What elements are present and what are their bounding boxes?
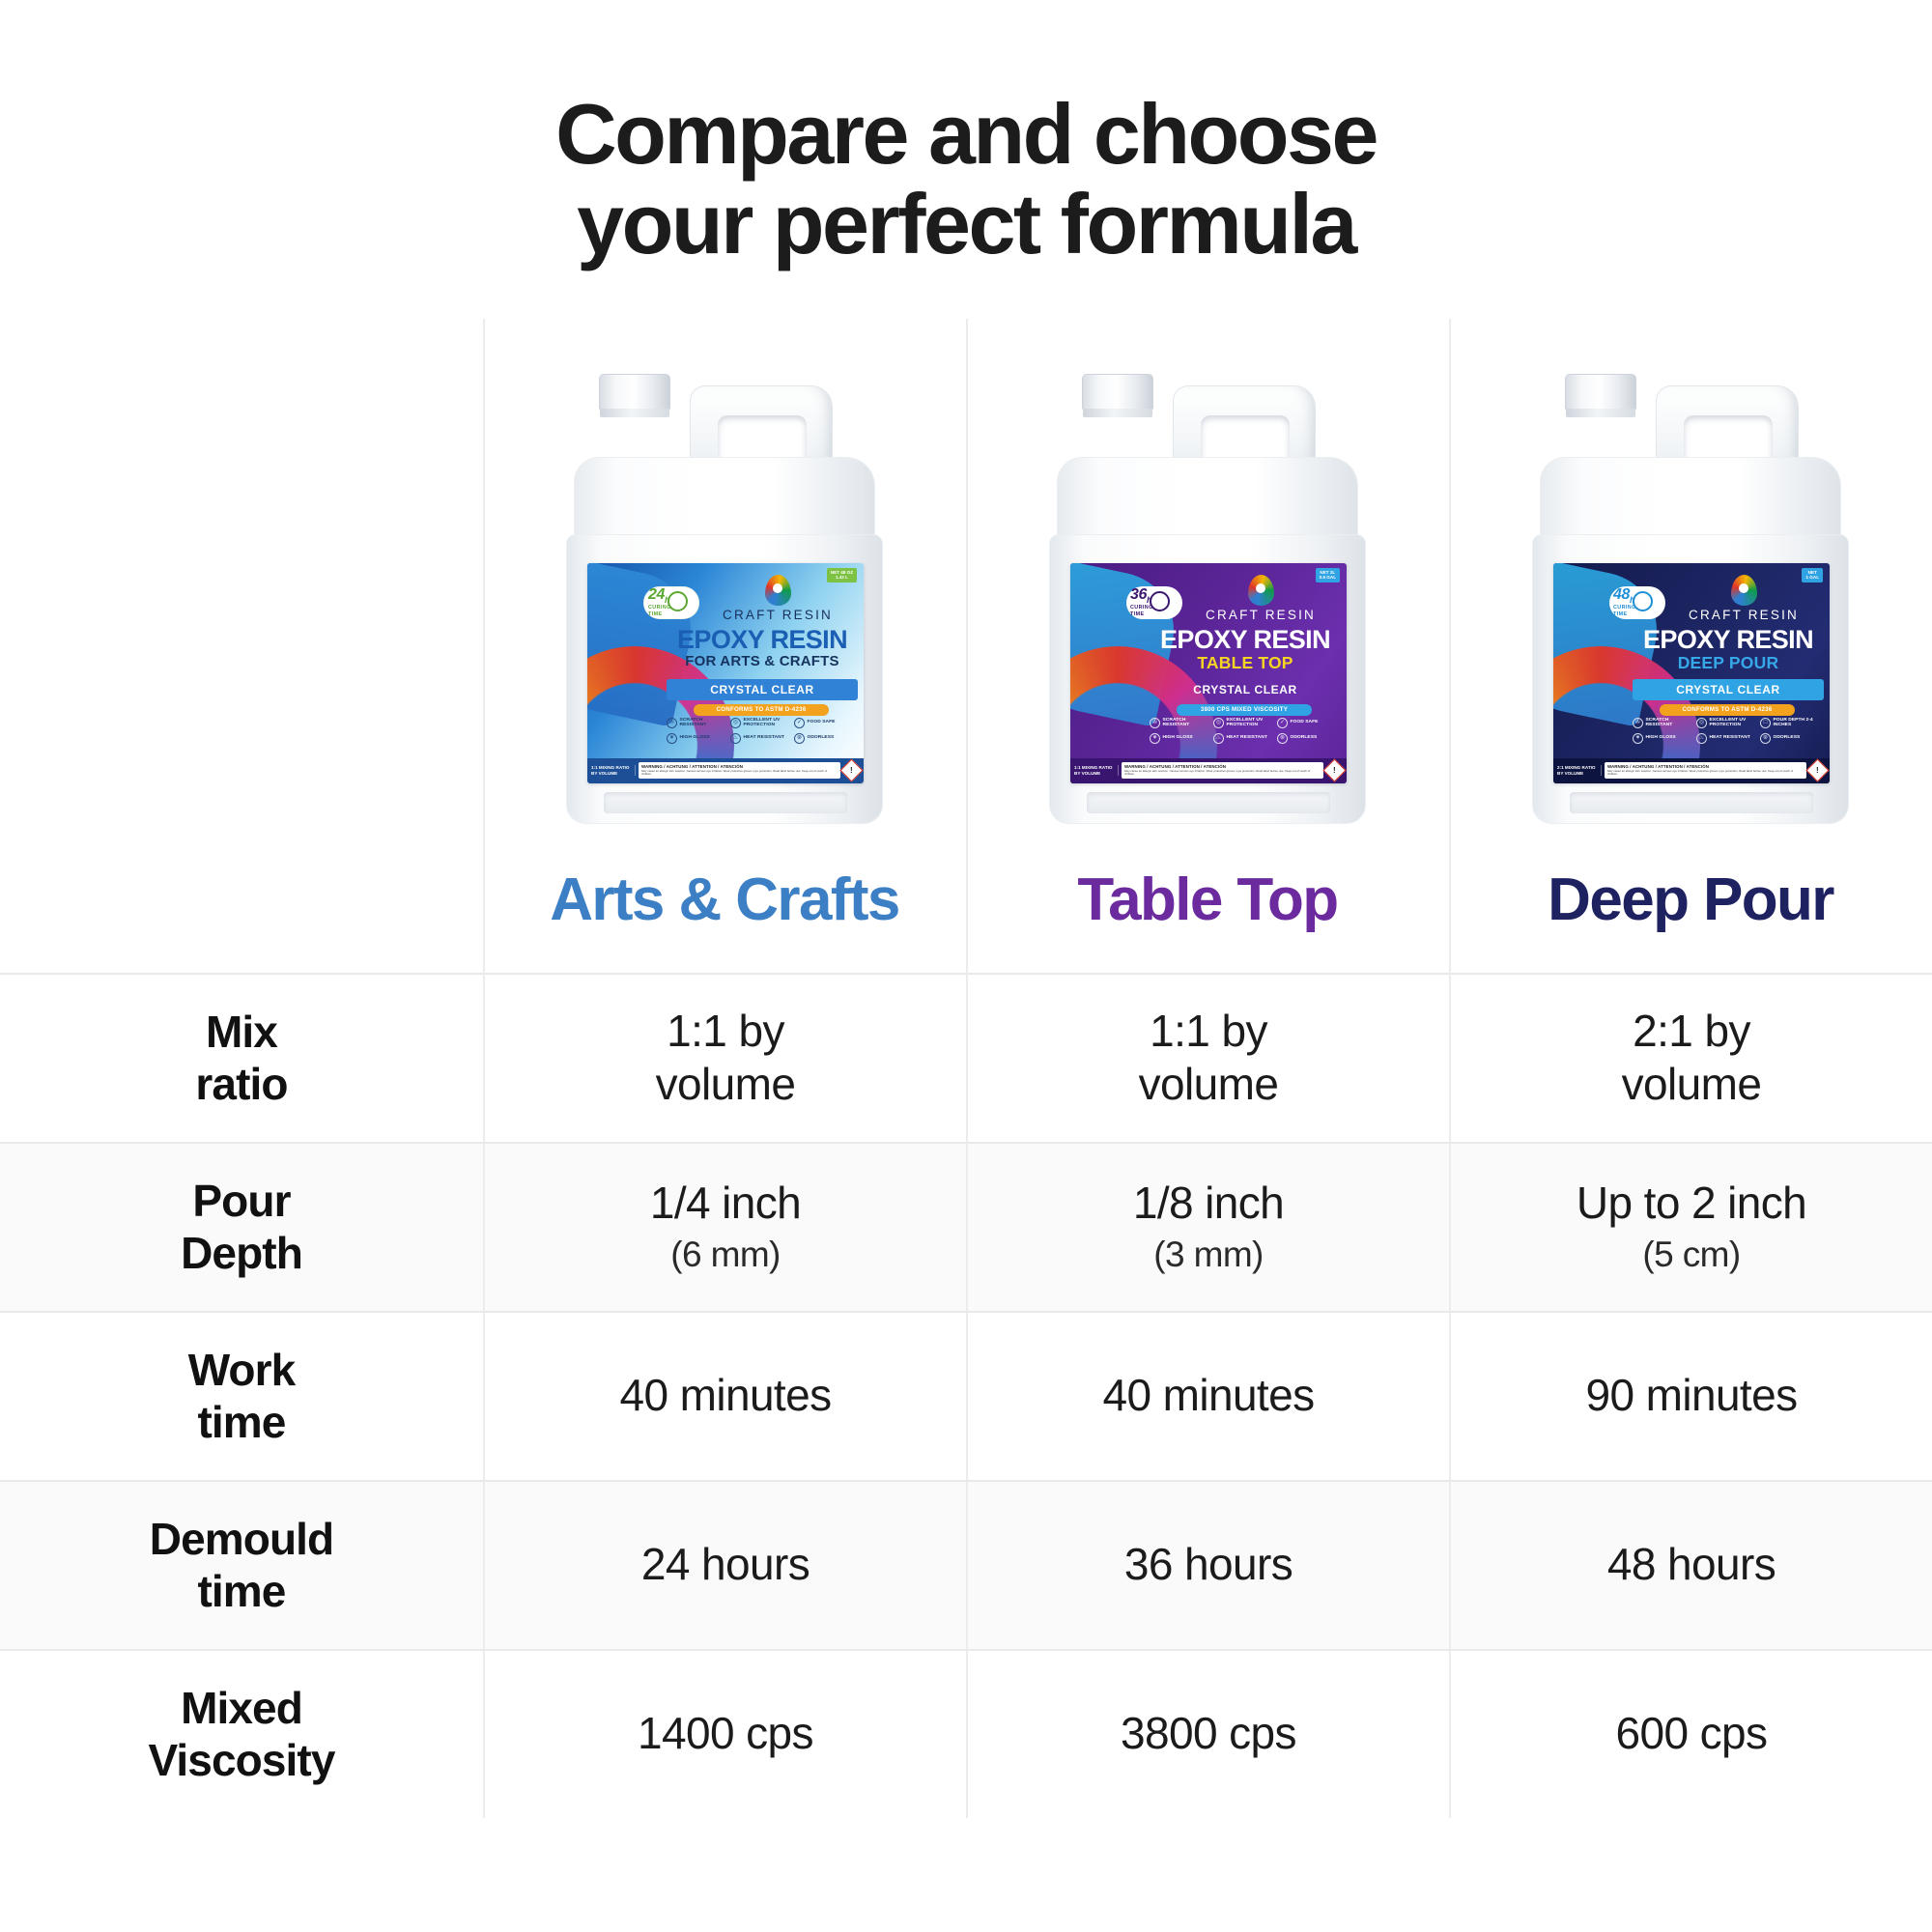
ghs-hazard-icon: !	[1322, 759, 1346, 782]
cell-subvalue: (6 mm)	[670, 1234, 781, 1276]
rainbow-droplet-icon	[1731, 575, 1757, 606]
cell-work-time-table-top: 40 minutes	[966, 1313, 1449, 1480]
feature-item: ◎EXCELLENT UV PROTECTION	[730, 718, 792, 728]
label-title-block: EPOXY RESIN DEEP POUR	[1636, 627, 1820, 672]
feature-item: ♨HEAT RESISTANT	[1696, 733, 1758, 744]
cell-work-time-deep-pour: 90 minutes	[1449, 1313, 1932, 1480]
feature-item: ⊗ODORLESS	[794, 733, 856, 744]
product-name-text: Arts & Crafts	[550, 867, 899, 933]
table-row: PourDepth 1/4 inch (6 mm) 1/8 inch (3 mm…	[0, 1142, 1932, 1311]
feature-label: HEAT RESISTANT	[744, 735, 784, 740]
label-title-line-1: EPOXY RESIN	[670, 627, 854, 653]
warning-block: WARNING / ACHTUNG / ATTENTION / ATENCIÓN…	[1122, 762, 1323, 779]
label-feature-grid: ✇SCRATCH RESISTANT ◎EXCELLENT UV PROTECT…	[665, 718, 858, 744]
feature-label: ODORLESS	[808, 735, 835, 740]
astm-badge: CONFORMS TO ASTM D-4236	[1660, 704, 1795, 716]
crystal-clear-bar: CRYSTAL CLEAR	[1633, 679, 1824, 700]
rainbow-droplet-icon	[1248, 575, 1274, 606]
feature-item: ◎EXCELLENT UV PROTECTION	[1213, 718, 1275, 728]
feature-item: ✇SCRATCH RESISTANT	[1150, 718, 1211, 728]
crystal-clear-bar: CRYSTAL CLEAR	[1150, 679, 1341, 700]
feature-item: ✷HIGH GLOSS	[1633, 733, 1694, 744]
feature-label: EXCELLENT UV PROTECTION	[744, 718, 793, 728]
ghs-hazard-icon: !	[1805, 759, 1829, 782]
product-label-table-top: NET 2L0.5 GAL 36h CURING TIME CRAFT RESI…	[1070, 563, 1347, 783]
mixing-ratio-text: 2:1 MIXING RATIO BY VOLUME	[1557, 765, 1602, 776]
odorless-icon: ⊗	[1277, 733, 1288, 744]
product-name-arts-crafts: Arts & Crafts	[483, 866, 966, 934]
cell-demould-time-deep-pour: 48 hours	[1449, 1482, 1932, 1649]
curing-label-2: TIME	[1130, 612, 1153, 617]
feature-label: HIGH GLOSS	[680, 735, 710, 740]
feature-item: ◎EXCELLENT UV PROTECTION	[1696, 718, 1758, 728]
brand-lockup: CRAFT RESIN	[1671, 575, 1816, 622]
row-attribute-mix-ratio: Mixratio	[0, 975, 483, 1142]
astm-badge: CONFORMS TO ASTM D-4236	[694, 704, 829, 716]
high-gloss-icon: ✷	[667, 733, 677, 744]
brand-name: CRAFT RESIN	[1188, 608, 1333, 622]
curing-label-2: TIME	[648, 612, 671, 617]
warning-body: May cause an allergic skin reaction. Cau…	[641, 770, 838, 777]
bottle-shoulder	[1057, 457, 1358, 546]
cell-demould-time-arts-crafts: 24 hours	[483, 1482, 966, 1649]
product-images-row: NET 48 OZ1.42 L 24h CURING TIME CRAFT RE…	[0, 316, 1932, 828]
product-image-deep-pour: NET1 GAL 48h CURING TIME CRAFT RESIN	[1449, 316, 1932, 828]
row-attribute-work-time: Worktime	[0, 1313, 483, 1480]
label-footer: 1:1 MIXING RATIO BY VOLUME WARNING / ACH…	[1070, 758, 1347, 783]
curing-label-1: CURING	[1613, 606, 1636, 611]
heat-resistant-icon: ♨	[1213, 733, 1224, 744]
bottle-deep-pour: NET1 GAL 48h CURING TIME CRAFT RESIN	[1511, 374, 1870, 828]
feature-item: ✓FOOD SAFE	[794, 718, 856, 728]
page-title: Compare and choose your perfect formula	[0, 0, 1932, 270]
odorless-icon: ⊗	[1760, 733, 1771, 744]
bottle-shoulder	[574, 457, 875, 546]
bottle-cap-icon	[1082, 374, 1153, 411]
bottle-cap-icon	[1565, 374, 1636, 411]
brand-lockup: CRAFT RESIN	[705, 575, 850, 622]
feature-label: HIGH GLOSS	[1163, 735, 1193, 740]
label-footer: 1:1 MIXING RATIO BY VOLUME WARNING / ACH…	[587, 758, 864, 783]
label-title-line-1: EPOXY RESIN	[1636, 627, 1820, 653]
feature-item: ♨HEAT RESISTANT	[1213, 733, 1275, 744]
cell-subvalue: (3 mm)	[1153, 1234, 1264, 1276]
cell-pour-depth-deep-pour: Up to 2 inch (5 cm)	[1449, 1144, 1932, 1311]
feature-item: ✇SCRATCH RESISTANT	[1633, 718, 1694, 728]
uv-protection-icon: ◎	[1696, 718, 1707, 728]
product-name-text: Table Top	[1077, 867, 1337, 933]
curing-label-1: CURING	[1130, 606, 1153, 611]
bottle-cap-icon	[599, 374, 670, 411]
feature-item: ✷HIGH GLOSS	[667, 733, 728, 744]
brand-name: CRAFT RESIN	[1671, 608, 1816, 622]
feature-label: HEAT RESISTANT	[1227, 735, 1267, 740]
feature-label: ODORLESS	[1291, 735, 1318, 740]
scratch-resistant-icon: ✇	[1633, 718, 1643, 728]
warning-block: WARNING / ACHTUNG / ATTENTION / ATENCIÓN…	[1605, 762, 1806, 779]
clock-dial-icon	[1633, 591, 1653, 611]
odorless-icon: ⊗	[794, 733, 805, 744]
row-attribute-mixed-viscosity: MixedViscosity	[0, 1651, 483, 1818]
cell-mixed-viscosity-arts-crafts: 1400 cps	[483, 1651, 966, 1818]
curing-label-2: TIME	[1613, 612, 1636, 617]
label-title-line-1: EPOXY RESIN	[1153, 627, 1337, 653]
cell-demould-time-table-top: 36 hours	[966, 1482, 1449, 1649]
warning-body: May cause an allergic skin reaction. Cau…	[1124, 770, 1321, 777]
clock-dial-icon	[1150, 591, 1170, 611]
curing-time-badge: 48h CURING TIME	[1609, 586, 1665, 619]
row-attribute-demould-time: Demouldtime	[0, 1482, 483, 1649]
feature-item: ✇SCRATCH RESISTANT	[667, 718, 728, 728]
feature-item: ⊗ODORLESS	[1760, 733, 1822, 744]
bottle-arts-crafts: NET 48 OZ1.42 L 24h CURING TIME CRAFT RE…	[545, 374, 904, 828]
table-row: Demouldtime 24 hours 36 hours 48 hours	[0, 1480, 1932, 1649]
label-title-line-2: DEEP POUR	[1636, 654, 1820, 672]
feature-label: FOOD SAFE	[1291, 720, 1319, 724]
food-safe-icon: ✓	[794, 718, 805, 728]
comparison-infographic: Compare and choose your perfect formula …	[0, 0, 1932, 1932]
page-title-line-2: your perfect formula	[0, 179, 1932, 269]
label-footer: 2:1 MIXING RATIO BY VOLUME WARNING / ACH…	[1553, 758, 1830, 783]
comparison-table: Mixratio 1:1 byvolume 1:1 byvolume 2:1 b…	[0, 973, 1932, 1818]
cell-mix-ratio-arts-crafts: 1:1 byvolume	[483, 975, 966, 1142]
feature-item: ✓FOOD SAFE	[1277, 718, 1339, 728]
ghs-hazard-icon: !	[839, 759, 863, 782]
brand-name: CRAFT RESIN	[705, 608, 850, 622]
pour-depth-icon: □	[1760, 718, 1771, 728]
scratch-resistant-icon: ✇	[667, 718, 677, 728]
uv-protection-icon: ◎	[1213, 718, 1224, 728]
cell-mixed-viscosity-table-top: 3800 cps	[966, 1651, 1449, 1818]
cell-subvalue: (5 cm)	[1642, 1234, 1740, 1276]
curing-time-badge: 24h CURING TIME	[643, 586, 699, 619]
high-gloss-icon: ✷	[1633, 733, 1643, 744]
label-title-block: EPOXY RESIN TABLE TOP	[1153, 627, 1337, 672]
mixing-ratio-text: 1:1 MIXING RATIO BY VOLUME	[1074, 765, 1119, 776]
feature-label: EXCELLENT UV PROTECTION	[1710, 718, 1759, 728]
feature-label: FOOD SAFE	[808, 720, 836, 724]
feature-label: POUR DEPTH 2-4 INCHES	[1774, 718, 1823, 728]
high-gloss-icon: ✷	[1150, 733, 1160, 744]
label-title-line-2: TABLE TOP	[1153, 654, 1337, 672]
feature-label: ODORLESS	[1774, 735, 1801, 740]
feature-label: SCRATCH RESISTANT	[1163, 718, 1212, 728]
feature-label: EXCELLENT UV PROTECTION	[1227, 718, 1276, 728]
cell-mix-ratio-table-top: 1:1 byvolume	[966, 975, 1449, 1142]
warning-block: WARNING / ACHTUNG / ATTENTION / ATENCIÓN…	[639, 762, 840, 779]
product-image-table-top: NET 2L0.5 GAL 36h CURING TIME CRAFT RESI…	[966, 316, 1449, 828]
rainbow-droplet-icon	[765, 575, 791, 606]
row-attribute-pour-depth: PourDepth	[0, 1144, 483, 1311]
brand-lockup: CRAFT RESIN	[1188, 575, 1333, 622]
label-feature-grid: ✇SCRATCH RESISTANT ◎EXCELLENT UV PROTECT…	[1148, 718, 1341, 744]
label-title-block: EPOXY RESIN FOR ARTS & CRAFTS	[670, 627, 854, 670]
mixing-ratio-text: 1:1 MIXING RATIO BY VOLUME	[591, 765, 636, 776]
heat-resistant-icon: ♨	[1696, 733, 1707, 744]
curing-label-1: CURING	[648, 606, 671, 611]
cell-pour-depth-table-top: 1/8 inch (3 mm)	[966, 1144, 1449, 1311]
cell-work-time-arts-crafts: 40 minutes	[483, 1313, 966, 1480]
cell-pour-depth-arts-crafts: 1/4 inch (6 mm)	[483, 1144, 966, 1311]
bottle-table-top: NET 2L0.5 GAL 36h CURING TIME CRAFT RESI…	[1028, 374, 1387, 828]
clock-dial-icon	[668, 591, 688, 611]
cell-mixed-viscosity-deep-pour: 600 cps	[1449, 1651, 1932, 1818]
product-name-table-top: Table Top	[966, 866, 1449, 934]
feature-item: ✷HIGH GLOSS	[1150, 733, 1211, 744]
feature-item: ♨HEAT RESISTANT	[730, 733, 792, 744]
feature-label: HEAT RESISTANT	[1710, 735, 1750, 740]
table-row: MixedViscosity 1400 cps 3800 cps 600 cps	[0, 1649, 1932, 1818]
warning-body: May cause an allergic skin reaction. Cau…	[1607, 770, 1804, 777]
label-feature-grid: ✇SCRATCH RESISTANT ◎EXCELLENT UV PROTECT…	[1631, 718, 1824, 744]
uv-protection-icon: ◎	[730, 718, 741, 728]
product-image-arts-crafts: NET 48 OZ1.42 L 24h CURING TIME CRAFT RE…	[483, 316, 966, 828]
scratch-resistant-icon: ✇	[1150, 718, 1160, 728]
product-row-spacer	[0, 316, 483, 828]
feature-item: □POUR DEPTH 2-4 INCHES	[1760, 718, 1822, 728]
feature-label: HIGH GLOSS	[1646, 735, 1676, 740]
page-title-line-1: Compare and choose	[0, 89, 1932, 179]
product-name-text: Deep Pour	[1548, 867, 1833, 933]
feature-label: SCRATCH RESISTANT	[680, 718, 729, 728]
cell-mix-ratio-deep-pour: 2:1 byvolume	[1449, 975, 1932, 1142]
feature-item: ⊗ODORLESS	[1277, 733, 1339, 744]
product-label-deep-pour: NET1 GAL 48h CURING TIME CRAFT RESIN	[1553, 563, 1830, 783]
product-name-deep-pour: Deep Pour	[1449, 866, 1932, 934]
curing-time-badge: 36h CURING TIME	[1126, 586, 1182, 619]
label-title-line-2: FOR ARTS & CRAFTS	[670, 654, 854, 670]
product-label-arts-crafts: NET 48 OZ1.42 L 24h CURING TIME CRAFT RE…	[587, 563, 864, 783]
crystal-clear-bar: CRYSTAL CLEAR	[667, 679, 858, 700]
table-row: Worktime 40 minutes 40 minutes 90 minute…	[0, 1311, 1932, 1480]
bottle-shoulder	[1540, 457, 1841, 546]
astm-badge: 3800 CPS MIXED VISCOSITY	[1177, 704, 1312, 716]
heat-resistant-icon: ♨	[730, 733, 741, 744]
feature-label: SCRATCH RESISTANT	[1646, 718, 1695, 728]
food-safe-icon: ✓	[1277, 718, 1288, 728]
